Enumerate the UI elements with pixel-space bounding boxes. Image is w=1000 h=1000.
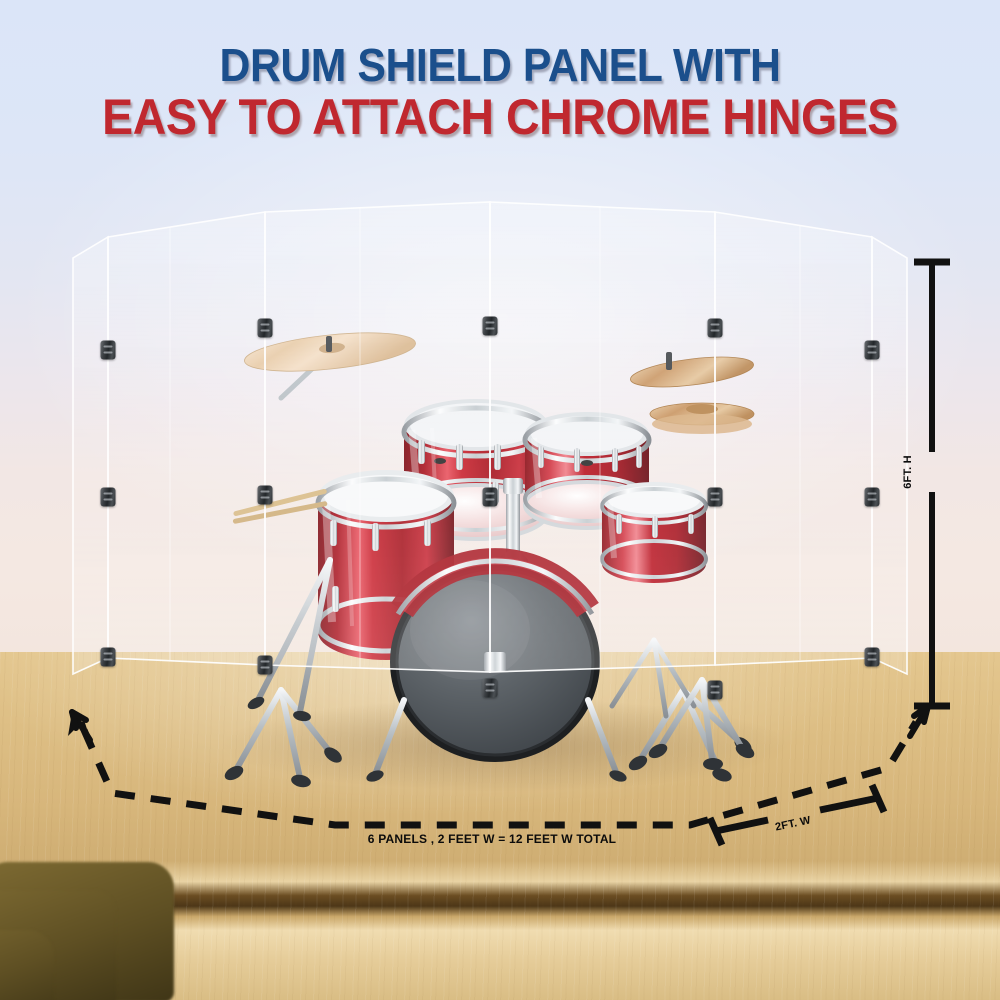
dimension-annotations (0, 0, 1000, 1000)
product-marketing-image: 6FT. H 6 PANELS , 2 FEET W = 12 FEET W T… (0, 0, 1000, 1000)
height-dimension-label: 6FT. H (902, 455, 914, 489)
footprint-dashed-line (84, 722, 916, 825)
total-width-dimension-label: 6 PANELS , 2 FEET W = 12 FEET W TOTAL (368, 832, 616, 846)
height-dimension-line (914, 262, 950, 706)
